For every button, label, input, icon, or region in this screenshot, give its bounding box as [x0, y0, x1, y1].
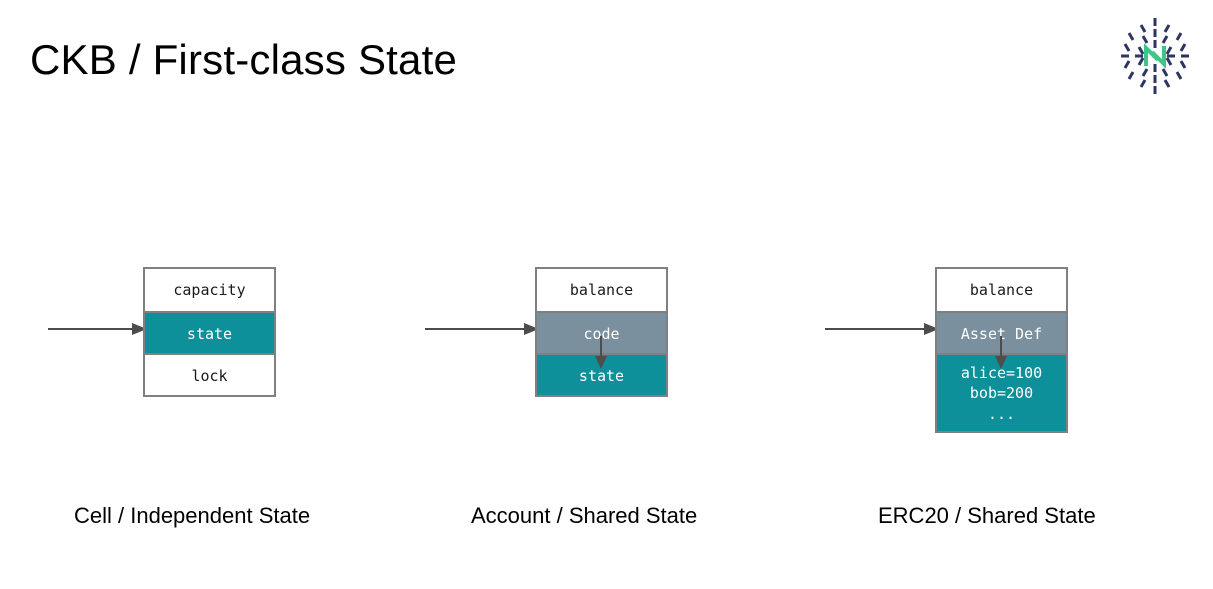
diagram-group-cell: capacity state lock — [143, 267, 276, 397]
account-row-state: state — [537, 353, 666, 395]
cell-box: capacity state lock — [143, 267, 276, 397]
diagram-group-erc20: balance Asset Def alice=100 bob=200 ... — [935, 267, 1068, 433]
page-title: CKB / First-class State — [30, 36, 457, 84]
incoming-arrow-erc20 — [825, 318, 940, 340]
diagram-group-account: balance code state — [535, 267, 668, 397]
account-box: balance code state — [535, 267, 668, 397]
incoming-arrow-cell — [48, 318, 148, 340]
logo-icon — [1113, 14, 1197, 98]
erc20-row-holdings: alice=100 bob=200 ... — [937, 353, 1066, 431]
arrow-right-icon — [825, 318, 940, 340]
cell-row-state: state — [145, 311, 274, 353]
erc20-row-asset-def: Asset Def — [937, 311, 1066, 353]
erc20-box: balance Asset Def alice=100 bob=200 ... — [935, 267, 1068, 433]
caption-erc20: ERC20 / Shared State — [878, 503, 1096, 529]
erc20-holding-ellipsis: ... — [937, 404, 1066, 424]
account-row-code: code — [537, 311, 666, 353]
arrow-right-icon — [425, 318, 540, 340]
erc20-row-balance: balance — [937, 269, 1066, 311]
erc20-holding-bob: bob=200 — [937, 383, 1066, 403]
cell-row-lock: lock — [145, 353, 274, 395]
cell-row-capacity: capacity — [145, 269, 274, 311]
nervos-ckb-logo — [1113, 14, 1197, 98]
erc20-holding-alice: alice=100 — [937, 363, 1066, 383]
caption-account: Account / Shared State — [471, 503, 697, 529]
arrow-right-icon — [48, 318, 148, 340]
account-row-balance: balance — [537, 269, 666, 311]
caption-cell: Cell / Independent State — [74, 503, 310, 529]
incoming-arrow-account — [425, 318, 540, 340]
